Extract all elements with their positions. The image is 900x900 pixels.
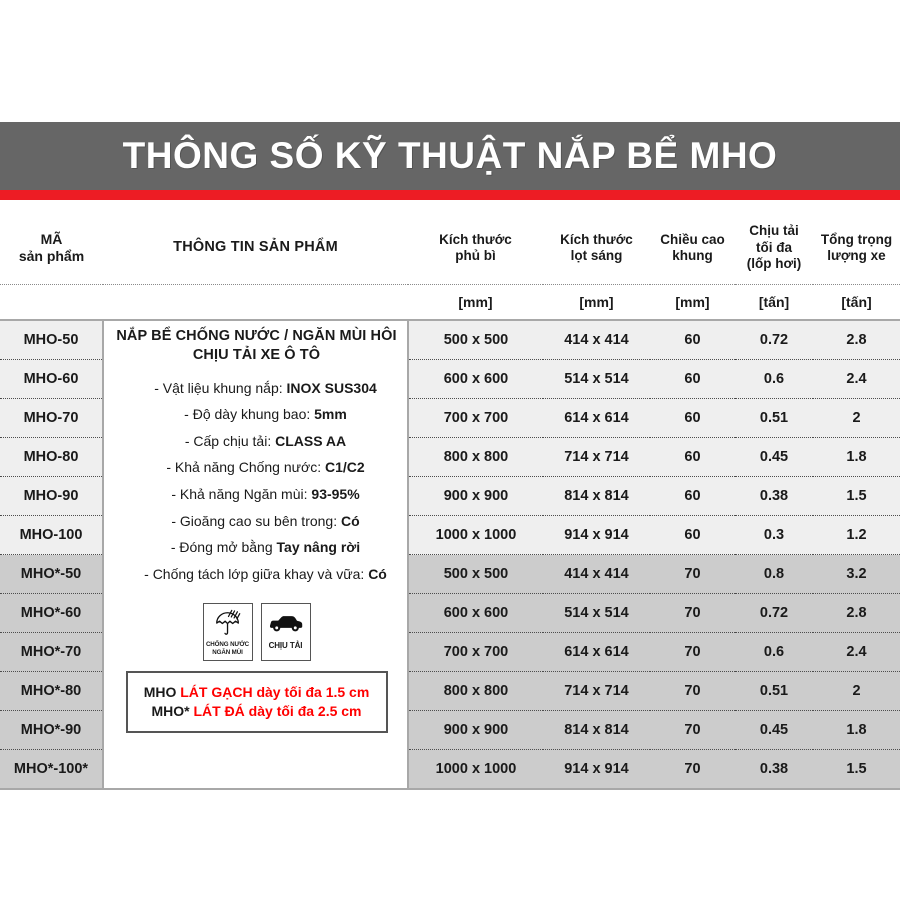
cell-max-load: 0.51 — [735, 672, 813, 711]
product-spec-line: - Độ dày khung bao: 5mm — [116, 401, 397, 428]
cell-product-code: MHO-80 — [0, 438, 103, 477]
col-header-max-load-line3: (lốp hơi) — [735, 256, 813, 272]
header-row-labels: MÃ sản phẩm THÔNG TIN SẢN PHẨM Kích thướ… — [0, 212, 900, 285]
cell-overall-size: 500 x 500 — [408, 320, 543, 360]
product-spec-value: Tay nâng rời — [277, 539, 361, 555]
cell-product-code: MHO-70 — [0, 399, 103, 438]
unit-info — [103, 285, 408, 321]
col-header-frame-height-line1: Chiều cao — [650, 232, 735, 248]
table-row: MHO-50 NẮP BỂ CHỐNG NƯỚC / NGĂN MÙI HÔI … — [0, 320, 900, 360]
cell-max-load: 0.72 — [735, 320, 813, 360]
product-spec-label: - Gioăng cao su bên trong: — [171, 513, 341, 529]
cell-clear-opening: 814 x 814 — [543, 477, 650, 516]
page-title: THÔNG SỐ KỸ THUẬT NẮP BỂ MHO — [123, 135, 778, 177]
note-text-stone: LÁT ĐÁ dày tối đa 2.5 cm — [193, 703, 361, 719]
product-spec-line: - Khả năng Chống nước: C1/C2 — [116, 454, 397, 481]
unit-clear-opening: [mm] — [543, 285, 650, 321]
cell-frame-height: 70 — [650, 711, 735, 750]
cell-vehicle-weight: 1.8 — [813, 711, 900, 750]
product-spec-value: Có — [341, 513, 360, 529]
col-header-vehicle-weight-line2: lượng xe — [813, 248, 900, 264]
header-row-units: [mm] [mm] [mm] [tấn] [tấn] — [0, 285, 900, 321]
cell-clear-opening: 914 x 914 — [543, 516, 650, 555]
cell-overall-size: 800 x 800 — [408, 672, 543, 711]
badge-waterproof-caption: CHỐNG NƯỚCNGĂN MÙI — [206, 641, 249, 657]
cell-frame-height: 70 — [650, 555, 735, 594]
cell-product-code: MHO-50 — [0, 320, 103, 360]
cell-overall-size: 1000 x 1000 — [408, 750, 543, 790]
cell-product-code: MHO*-70 — [0, 633, 103, 672]
cell-max-load: 0.8 — [735, 555, 813, 594]
cell-max-load: 0.38 — [735, 477, 813, 516]
cell-frame-height: 60 — [650, 320, 735, 360]
cell-max-load: 0.45 — [735, 438, 813, 477]
col-header-code-line1: MÃ — [0, 231, 103, 248]
cell-overall-size: 700 x 700 — [408, 633, 543, 672]
product-spec-label: - Khả năng Ngăn mùi: — [171, 486, 311, 502]
product-spec-line: - Gioăng cao su bên trong: Có — [116, 507, 397, 534]
cell-frame-height: 70 — [650, 672, 735, 711]
cell-vehicle-weight: 2 — [813, 399, 900, 438]
cell-vehicle-weight: 2.8 — [813, 594, 900, 633]
unit-max-load: [tấn] — [735, 285, 813, 321]
badge-load-bearing: CHỊU TẢI — [261, 603, 311, 661]
product-spec-label: - Độ dày khung bao: — [184, 406, 314, 422]
cell-vehicle-weight: 1.5 — [813, 477, 900, 516]
cell-vehicle-weight: 2.4 — [813, 633, 900, 672]
cell-max-load: 0.6 — [735, 633, 813, 672]
cell-frame-height: 70 — [650, 594, 735, 633]
note-code-mho: MHO — [144, 684, 181, 700]
cell-vehicle-weight: 2 — [813, 672, 900, 711]
product-info-title-line1: NẮP BỂ CHỐNG NƯỚC / NGĂN MÙI HÔI — [116, 327, 397, 346]
product-spec-value: CLASS AA — [275, 433, 346, 449]
cell-max-load: 0.6 — [735, 360, 813, 399]
col-header-max-load: Chịu tải tối đa (lốp hơi) — [735, 212, 813, 285]
cell-clear-opening: 914 x 914 — [543, 750, 650, 790]
cell-clear-opening: 814 x 814 — [543, 711, 650, 750]
col-header-frame-height: Chiều cao khung — [650, 212, 735, 285]
product-spec-value: 93-95% — [311, 486, 359, 502]
unit-overall-size: [mm] — [408, 285, 543, 321]
col-header-clear-opening-line2: lọt sáng — [543, 248, 650, 264]
cell-overall-size: 800 x 800 — [408, 438, 543, 477]
umbrella-rain-icon — [213, 607, 243, 641]
cell-vehicle-weight: 3.2 — [813, 555, 900, 594]
product-spec-value: INOX SUS304 — [287, 380, 377, 396]
cell-overall-size: 600 x 600 — [408, 594, 543, 633]
table-header: MÃ sản phẩm THÔNG TIN SẢN PHẨM Kích thướ… — [0, 212, 900, 320]
product-spec-label: - Vật liệu khung nắp: — [154, 380, 286, 396]
col-header-clear-opening-line1: Kích thước — [543, 232, 650, 248]
cell-clear-opening: 414 x 414 — [543, 555, 650, 594]
cell-frame-height: 60 — [650, 516, 735, 555]
cell-max-load: 0.38 — [735, 750, 813, 790]
cell-vehicle-weight: 2.4 — [813, 360, 900, 399]
cell-clear-opening: 514 x 514 — [543, 360, 650, 399]
product-spec-label: - Chống tách lớp giữa khay và vữa: — [144, 566, 368, 582]
car-icon — [269, 607, 303, 641]
cell-frame-height: 60 — [650, 438, 735, 477]
product-info-title: NẮP BỂ CHỐNG NƯỚC / NGĂN MÙI HÔI CHỊU TẢ… — [116, 327, 397, 365]
col-header-overall-size-line2: phủ bì — [408, 248, 543, 264]
cell-clear-opening: 614 x 614 — [543, 399, 650, 438]
cell-product-code: MHO*-60 — [0, 594, 103, 633]
cell-vehicle-weight: 2.8 — [813, 320, 900, 360]
spec-table: MÃ sản phẩm THÔNG TIN SẢN PHẨM Kích thướ… — [0, 212, 900, 790]
col-header-code: MÃ sản phẩm — [0, 212, 103, 285]
product-spec-label: - Khả năng Chống nước: — [166, 459, 325, 475]
note-code-mho-star: MHO* — [151, 703, 193, 719]
cell-vehicle-weight: 1.2 — [813, 516, 900, 555]
cell-clear-opening: 414 x 414 — [543, 320, 650, 360]
product-spec-value: 5mm — [314, 406, 347, 422]
unit-code — [0, 285, 103, 321]
cell-product-code: MHO*-100* — [0, 750, 103, 790]
product-spec-label: - Cấp chịu tải: — [185, 433, 275, 449]
cell-clear-opening: 714 x 714 — [543, 672, 650, 711]
cell-frame-height: 60 — [650, 477, 735, 516]
cell-product-code: MHO-60 — [0, 360, 103, 399]
cell-clear-opening: 614 x 614 — [543, 633, 650, 672]
cell-max-load: 0.3 — [735, 516, 813, 555]
product-spec-line: - Chống tách lớp giữa khay và vữa: Có — [116, 560, 397, 587]
thickness-note-line-1: MHO LÁT GẠCH dày tối đa 1.5 cm — [144, 683, 370, 702]
cell-product-code: MHO*-80 — [0, 672, 103, 711]
accent-bar — [0, 190, 900, 200]
cell-overall-size: 500 x 500 — [408, 555, 543, 594]
col-header-max-load-line1: Chịu tải — [735, 223, 813, 239]
note-text-tile: LÁT GẠCH dày tối đa 1.5 cm — [180, 684, 369, 700]
product-info-panel: NẮP BỂ CHỐNG NƯỚC / NGĂN MÙI HÔI CHỊU TẢ… — [104, 321, 407, 788]
col-header-overall-size: Kích thước phủ bì — [408, 212, 543, 285]
product-spec-line: - Đóng mở bằng Tay nâng rời — [116, 534, 397, 561]
product-info-title-line2: CHỊU TẢI XE Ô TÔ — [116, 346, 397, 365]
cell-product-code: MHO*-90 — [0, 711, 103, 750]
cell-frame-height: 60 — [650, 399, 735, 438]
cell-clear-opening: 714 x 714 — [543, 438, 650, 477]
product-spec-line: - Cấp chịu tải: CLASS AA — [116, 427, 397, 454]
product-spec-line: - Vật liệu khung nắp: INOX SUS304 — [116, 374, 397, 401]
col-header-frame-height-line2: khung — [650, 248, 735, 264]
col-header-vehicle-weight-line1: Tổng trọng — [813, 232, 900, 248]
cell-overall-size: 700 x 700 — [408, 399, 543, 438]
unit-vehicle-weight: [tấn] — [813, 285, 900, 321]
cell-overall-size: 900 x 900 — [408, 711, 543, 750]
cell-frame-height: 60 — [650, 360, 735, 399]
unit-frame-height: [mm] — [650, 285, 735, 321]
cell-product-code: MHO*-50 — [0, 555, 103, 594]
cell-overall-size: 1000 x 1000 — [408, 516, 543, 555]
col-header-clear-opening: Kích thước lọt sáng — [543, 212, 650, 285]
product-spec-value: C1/C2 — [325, 459, 365, 475]
cell-max-load: 0.72 — [735, 594, 813, 633]
product-spec-value: Có — [368, 566, 387, 582]
col-header-product-info: THÔNG TIN SẢN PHẨM — [103, 212, 408, 285]
col-header-code-line2: sản phẩm — [0, 248, 103, 265]
badge-waterproof-odorblock: CHỐNG NƯỚCNGĂN MÙI — [203, 603, 253, 661]
cell-overall-size: 900 x 900 — [408, 477, 543, 516]
cell-product-code: MHO-100 — [0, 516, 103, 555]
cell-vehicle-weight: 1.5 — [813, 750, 900, 790]
cell-frame-height: 70 — [650, 633, 735, 672]
title-banner: THÔNG SỐ KỸ THUẬT NẮP BỂ MHO — [0, 122, 900, 190]
col-header-vehicle-weight: Tổng trọng lượng xe — [813, 212, 900, 285]
cell-clear-opening: 514 x 514 — [543, 594, 650, 633]
cell-frame-height: 70 — [650, 750, 735, 790]
cell-overall-size: 600 x 600 — [408, 360, 543, 399]
cell-product-info: NẮP BỂ CHỐNG NƯỚC / NGĂN MÙI HÔI CHỊU TẢ… — [103, 320, 408, 789]
col-header-max-load-line2: tối đa — [735, 240, 813, 256]
cell-product-code: MHO-90 — [0, 477, 103, 516]
certification-badges: CHỐNG NƯỚCNGĂN MÙI CHỊU TẢI — [116, 603, 397, 661]
cell-max-load: 0.51 — [735, 399, 813, 438]
table-body: MHO-50 NẮP BỂ CHỐNG NƯỚC / NGĂN MÙI HÔI … — [0, 320, 900, 789]
cell-max-load: 0.45 — [735, 711, 813, 750]
thickness-note-line-2: MHO* LÁT ĐÁ dày tối đa 2.5 cm — [151, 702, 361, 721]
product-spec-line: - Khả năng Ngăn mùi: 93-95% — [116, 481, 397, 508]
thickness-note-box: MHO LÁT GẠCH dày tối đa 1.5 cm MHO* LÁT … — [126, 671, 388, 733]
col-header-overall-size-line1: Kích thước — [408, 232, 543, 248]
product-spec-label: - Đóng mở bằng — [171, 539, 277, 555]
badge-load-bearing-caption: CHỊU TẢI — [269, 641, 303, 651]
cell-vehicle-weight: 1.8 — [813, 438, 900, 477]
